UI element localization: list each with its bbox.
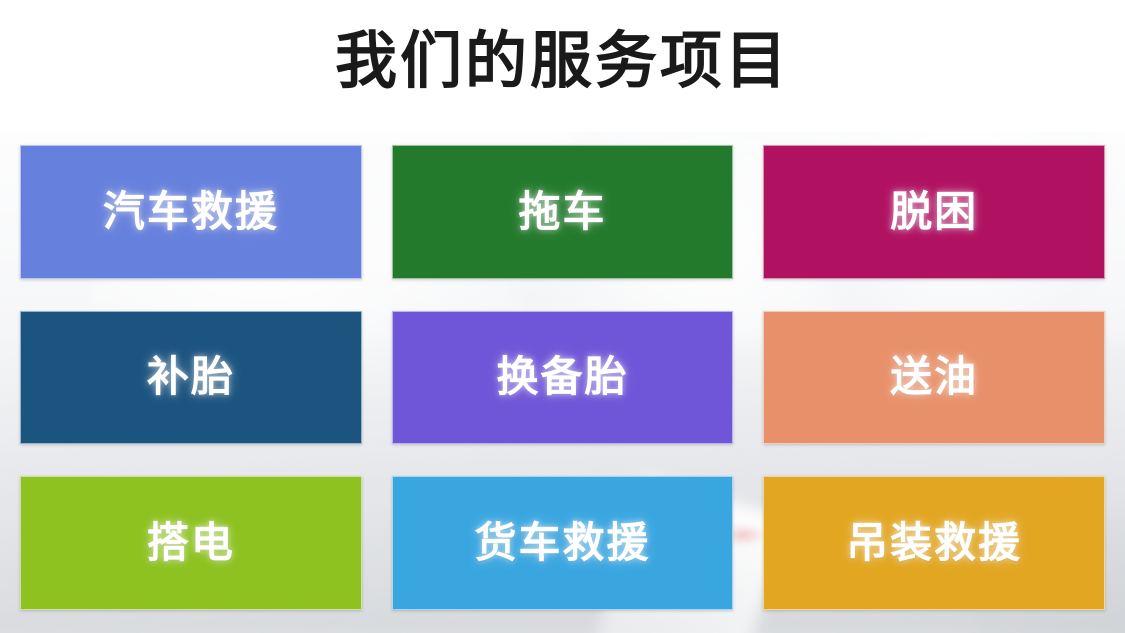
title-bar: 我们的服务项目	[0, 0, 1125, 132]
service-tile-label: 货车救援	[474, 522, 650, 564]
service-poster: 我们的服务项目 汽车救援 拖车 脱困 补胎 换备胎 送油 搭电	[0, 0, 1125, 633]
service-tile-towing[interactable]: 拖车	[392, 145, 734, 279]
service-tile-label: 吊装救援	[846, 522, 1022, 564]
service-tile-fuel-delivery[interactable]: 送油	[763, 311, 1105, 445]
service-tile-crane-rescue[interactable]: 吊装救援	[763, 476, 1105, 610]
service-tile-label: 换备胎	[496, 356, 628, 398]
service-tile-jump-start[interactable]: 搭电	[20, 476, 362, 610]
service-tile-grid: 汽车救援 拖车 脱困 补胎 换备胎 送油 搭电 货车救援	[20, 145, 1105, 610]
service-tile-label: 拖车	[518, 191, 606, 233]
service-tile-tire-repair[interactable]: 补胎	[20, 311, 362, 445]
service-tile-truck-rescue[interactable]: 货车救援	[392, 476, 734, 610]
service-tile-car-rescue[interactable]: 汽车救援	[20, 145, 362, 279]
poster-content: 我们的服务项目 汽车救援 拖车 脱困 补胎 换备胎 送油 搭电	[0, 0, 1125, 633]
service-tile-label: 补胎	[147, 356, 235, 398]
page-title: 我们的服务项目	[335, 31, 790, 101]
service-tile-spare-tire-change[interactable]: 换备胎	[392, 311, 734, 445]
service-tile-label: 脱困	[890, 191, 978, 233]
service-tile-label: 搭电	[147, 522, 235, 564]
service-tile-label: 汽车救援	[103, 191, 279, 233]
service-tile-label: 送油	[890, 356, 978, 398]
service-tile-extrication[interactable]: 脱困	[763, 145, 1105, 279]
